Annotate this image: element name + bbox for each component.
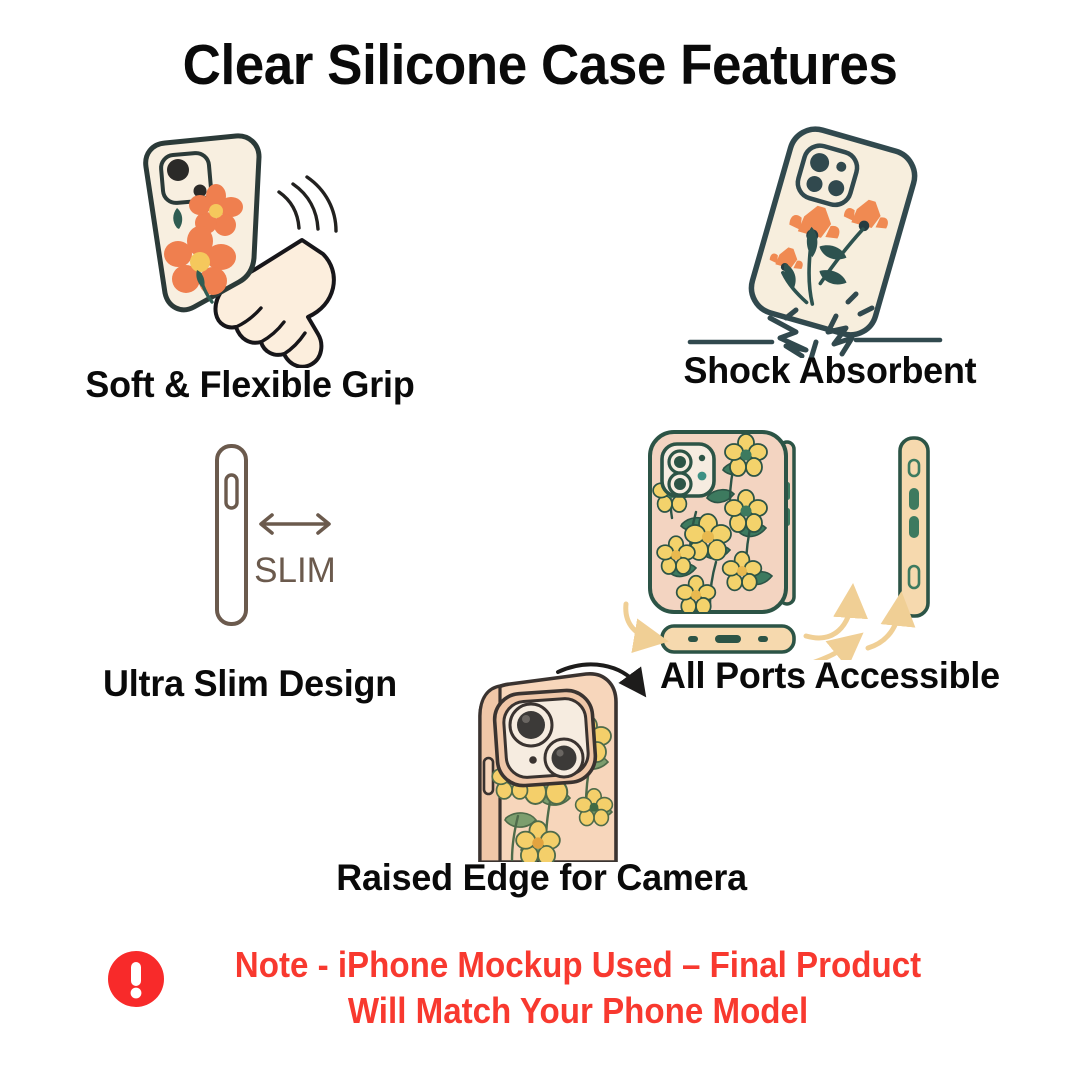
- slim-caption: SLIM: [254, 551, 336, 590]
- note-banner: Note - iPhone Mockup Used – Final Produc…: [0, 942, 1080, 1034]
- feature-shock-absorbent: Shock Absorbent: [620, 118, 1040, 408]
- note-text: Note - iPhone Mockup Used – Final Produc…: [215, 942, 942, 1034]
- hand-holding-flexing-phone-case-icon: [40, 118, 460, 368]
- phone-raised-camera-edge-icon: [330, 662, 750, 862]
- warning-exclamation-icon: [107, 950, 165, 1008]
- feature-raised-edge-for-camera: Raised Edge for Camera: [330, 662, 750, 932]
- feature-label: Soft & Flexible Grip: [46, 364, 453, 406]
- phone-side-profile-slim-icon: SLIM: [40, 428, 460, 658]
- phone-side-edge-view: [900, 438, 928, 616]
- feature-label: Raised Edge for Camera: [336, 857, 743, 899]
- infographic-page: Clear Silicone Case Features: [0, 0, 1080, 1080]
- phone-back-bottom-side-ports-icon: [620, 420, 1040, 660]
- phone-case-impact-shock-icon: [620, 118, 1040, 358]
- page-title: Clear Silicone Case Features: [38, 32, 1042, 98]
- feature-label: Shock Absorbent: [626, 350, 1033, 392]
- phone-bottom-edge-view: [662, 626, 794, 652]
- feature-soft-flexible-grip: Soft & Flexible Grip: [40, 118, 460, 408]
